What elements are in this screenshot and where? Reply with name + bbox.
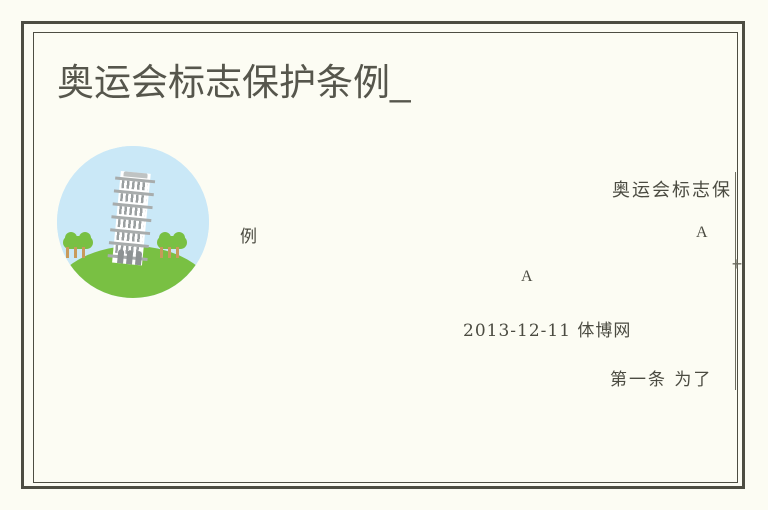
tower-door: [126, 250, 133, 265]
marker-a-top: A: [696, 224, 708, 242]
plus-icon: +: [729, 256, 745, 272]
column-rule: [735, 172, 736, 390]
document-page: 奥运会标志保护条例_: [0, 0, 768, 510]
tree-right: [157, 236, 187, 258]
clause-fragment: 第一条 为了: [610, 365, 712, 390]
tower-door: [135, 251, 142, 266]
pisa-tower-icon: [57, 146, 209, 298]
page-title: 奥运会标志保护条例_: [57, 60, 411, 106]
tree-trunks: [160, 247, 184, 258]
tree-trunks: [66, 247, 90, 258]
article-heading-fragment: 奥运会标志保: [612, 176, 732, 202]
tail-character-fragment: 例: [240, 222, 257, 247]
tower-door: [117, 249, 124, 264]
tree-left: [63, 236, 93, 258]
date-source-fragment: 2013-12-11 体博网: [463, 316, 631, 341]
marker-a-mid: A: [521, 268, 533, 286]
